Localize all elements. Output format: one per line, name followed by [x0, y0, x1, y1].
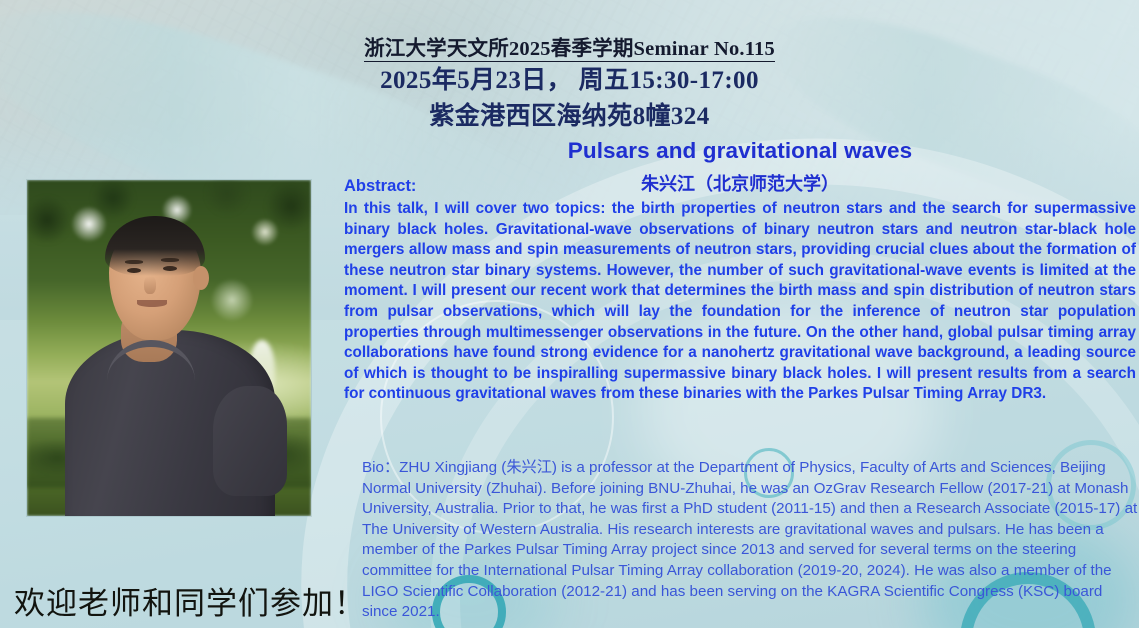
- portrait-eye-right: [163, 266, 177, 271]
- portrait-nose: [144, 276, 156, 294]
- portrait-sleeve: [213, 386, 287, 496]
- seminar-poster: 浙江大学天文所2025春季学期Seminar No.115 2025年5月23日…: [0, 0, 1139, 628]
- portrait-eye-left: [127, 268, 141, 273]
- seminar-series-heading-text: 浙江大学天文所2025春季学期Seminar No.115: [364, 38, 775, 62]
- speaker-name-affiliation: 朱兴江（北京师范大学）: [350, 170, 1130, 196]
- welcome-message: 欢迎老师和同学们参加！: [14, 578, 366, 623]
- portrait-eyebrow-left: [125, 260, 143, 264]
- speaker-bio: Bio：ZHU Xingjiang (朱兴江) is a professor a…: [362, 458, 1139, 623]
- abstract-body: In this talk, I will cover two topics: t…: [344, 199, 1136, 405]
- seminar-venue: 紫金港西区海纳苑8幢324: [0, 96, 1139, 132]
- portrait-ear: [193, 266, 209, 290]
- portrait-mouth: [137, 300, 167, 307]
- talk-title: Pulsars and gravitational waves: [350, 138, 1130, 164]
- speaker-portrait-photo: [27, 180, 311, 516]
- seminar-series-heading: 浙江大学天文所2025春季学期Seminar No.115: [0, 31, 1139, 61]
- abstract-label: Abstract:: [344, 177, 416, 196]
- seminar-datetime: 2025年5月23日， 周五15:30-17:00: [0, 60, 1139, 96]
- portrait-eyebrow-right: [161, 258, 179, 262]
